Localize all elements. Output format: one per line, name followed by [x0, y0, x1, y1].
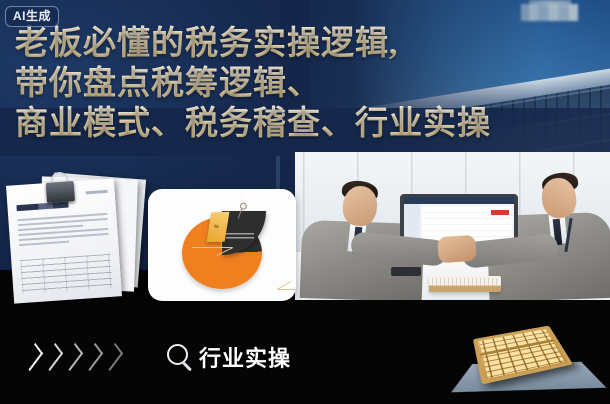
tagline-label: 行业实操 [199, 347, 291, 371]
chevron-right-icon [42, 343, 63, 371]
page-title: 老板必懂的税务实操逻辑, 带你盘点税筹逻辑、 商业模式、税务稽查、行业实操 [15, 24, 595, 144]
document-stack-image [4, 172, 150, 300]
document-table-grid [20, 254, 112, 294]
chevron-right-icon [82, 343, 103, 371]
handshake-hands [437, 235, 477, 264]
notebook-on-table [429, 276, 501, 292]
binder-clip-icon [42, 171, 78, 203]
chevron-right-icon [22, 343, 43, 371]
pie-chart [182, 203, 266, 287]
headline-line-1: 老板必懂的税务实操逻辑, [15, 24, 595, 64]
pie-leader-line-left [192, 247, 232, 248]
headline-line-3: 商业模式、税务稽查、行业实操 [15, 104, 595, 144]
footer-tagline: 行业实操 [165, 342, 291, 376]
document-corner-mark [86, 190, 108, 195]
pie-chart-card [148, 189, 296, 301]
headline-line-2: 带你盘点税筹逻辑、 [15, 64, 595, 104]
handshake-photo [295, 152, 610, 300]
abacus-image [455, 318, 605, 402]
search-icon [165, 342, 197, 376]
poster-canvas: AI生成 老板必懂的税务实操逻辑, 带你盘点税筹逻辑、 商业模式、税务稽查、行业… [0, 0, 610, 404]
pie-leader-line-right [278, 289, 296, 290]
chevron-right-icon [62, 343, 83, 371]
chevron-arrow-group [26, 346, 119, 368]
document-text-lines [17, 213, 109, 249]
document-heading-mark [16, 202, 68, 212]
phone-on-table [391, 267, 421, 276]
blurred-watermark-patch [521, 4, 578, 21]
ai-generated-badge: AI生成 [5, 6, 59, 27]
